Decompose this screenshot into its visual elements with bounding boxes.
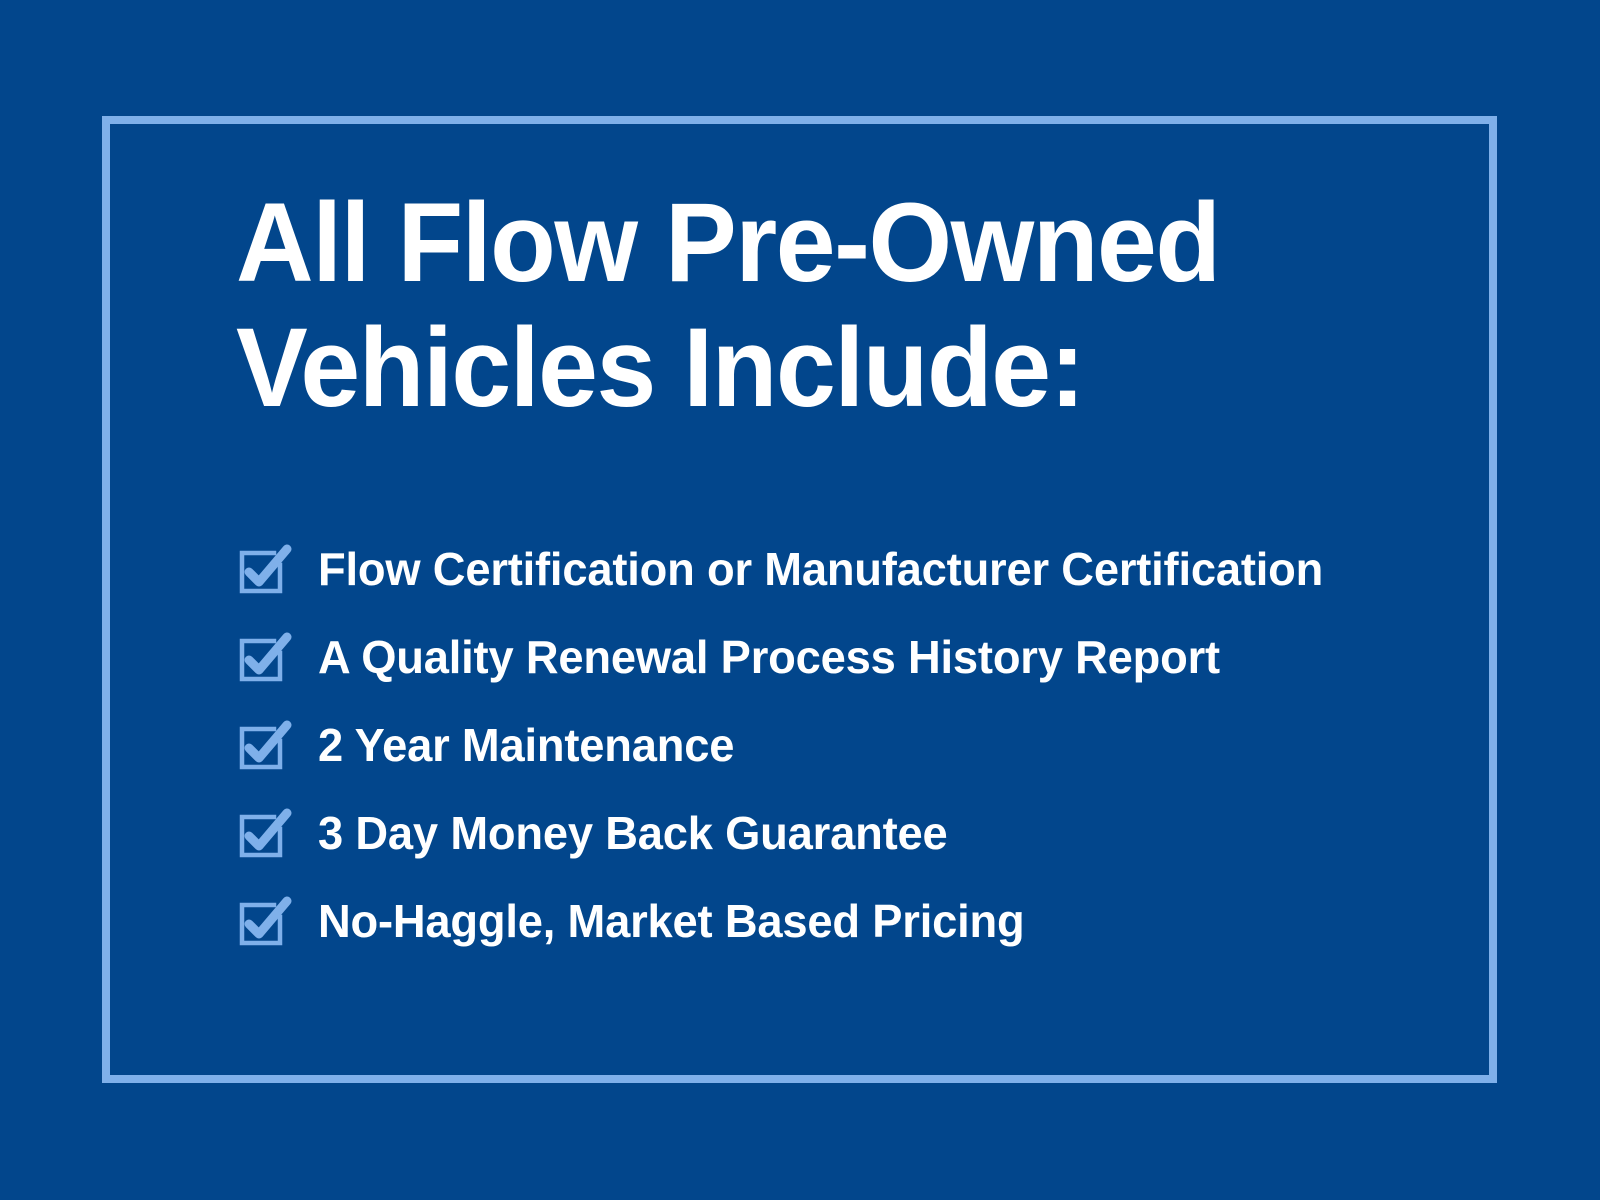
list-item: No-Haggle, Market Based Pricing bbox=[236, 877, 1466, 965]
checkbox-checked-icon bbox=[236, 541, 318, 597]
checkbox-checked-icon bbox=[236, 629, 318, 685]
checkbox-checked-icon bbox=[236, 717, 318, 773]
list-item-label: 2 Year Maintenance bbox=[318, 719, 734, 771]
benefits-list: Flow Certification or Manufacturer Certi… bbox=[236, 525, 1466, 965]
list-item: 3 Day Money Back Guarantee bbox=[236, 789, 1466, 877]
list-item-label: No-Haggle, Market Based Pricing bbox=[318, 895, 1024, 947]
list-item-label: A Quality Renewal Process History Report bbox=[318, 631, 1220, 683]
list-item: Flow Certification or Manufacturer Certi… bbox=[236, 525, 1466, 613]
checkbox-checked-icon bbox=[236, 893, 318, 949]
list-item-label: 3 Day Money Back Guarantee bbox=[318, 807, 947, 859]
poster-content: All Flow Pre-Owned Vehicles Include: Flo… bbox=[236, 180, 1456, 430]
checkbox-checked-icon bbox=[236, 805, 318, 861]
list-item: A Quality Renewal Process History Report bbox=[236, 613, 1466, 701]
list-item: 2 Year Maintenance bbox=[236, 701, 1466, 789]
page-title: All Flow Pre-Owned Vehicles Include: bbox=[236, 180, 1407, 430]
promo-poster: All Flow Pre-Owned Vehicles Include: Flo… bbox=[0, 0, 1600, 1200]
list-item-label: Flow Certification or Manufacturer Certi… bbox=[318, 543, 1323, 595]
